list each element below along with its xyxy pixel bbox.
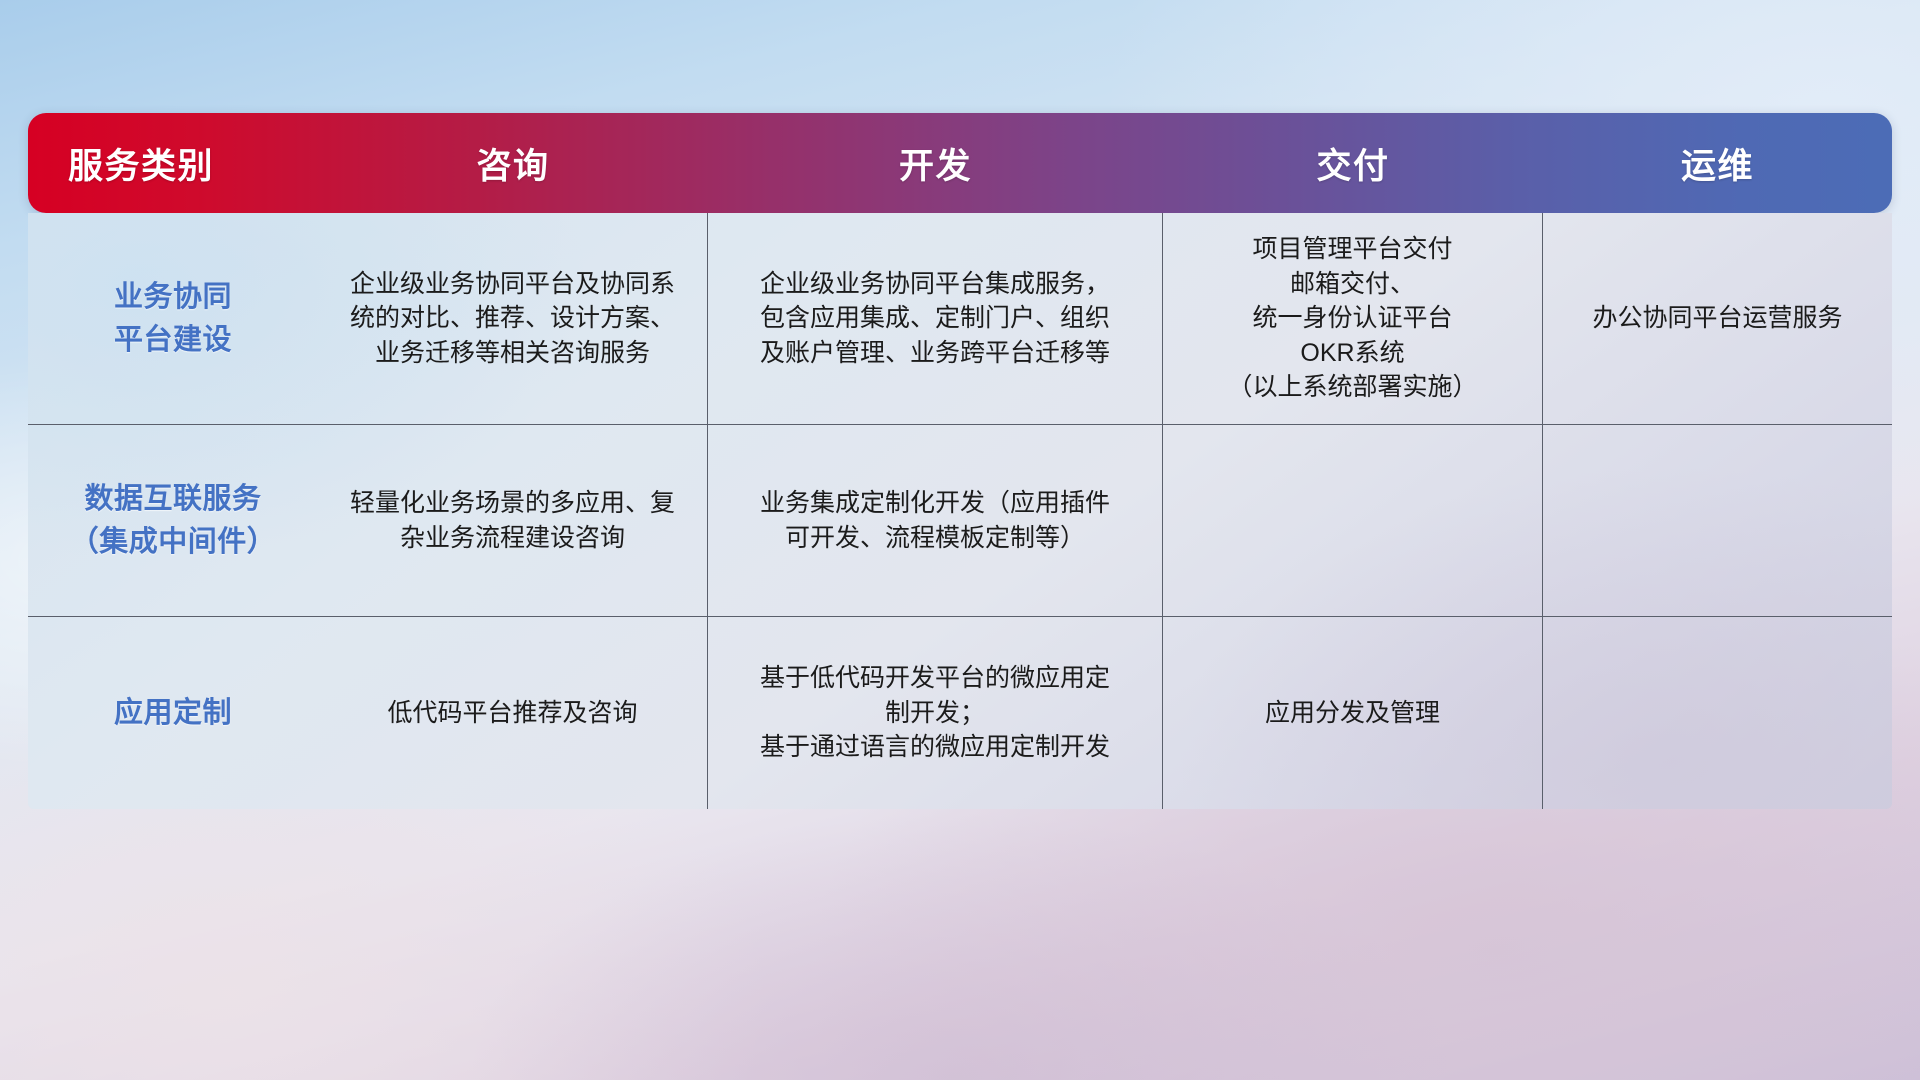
- column-header-development: 开发: [708, 113, 1163, 213]
- cell-row1-consulting: 企业级业务协同平台及协同系 统的对比、推荐、设计方案、 业务迁移等相关咨询服务: [318, 213, 708, 424]
- table-body: 业务协同 平台建设 企业级业务协同平台及协同系 统的对比、推荐、设计方案、 业务…: [28, 213, 1892, 809]
- service-matrix-table: 服务类别 咨询 开发 交付 运维 业务协同 平台建设 企业级业务协同平台及协同系…: [28, 113, 1892, 809]
- cell-row2-delivery: [1163, 425, 1543, 616]
- column-header-delivery: 交付: [1163, 113, 1543, 213]
- cell-row1-operations: 办公协同平台运营服务: [1543, 213, 1892, 424]
- cell-row3-delivery: 应用分发及管理: [1163, 617, 1543, 809]
- table-header-row: 服务类别 咨询 开发 交付 运维: [28, 113, 1892, 213]
- table-row: 业务协同 平台建设 企业级业务协同平台及协同系 统的对比、推荐、设计方案、 业务…: [28, 213, 1892, 425]
- column-header-operations: 运维: [1543, 113, 1892, 213]
- cell-row2-operations: [1543, 425, 1892, 616]
- row-label-data-interconnect-service: 数据互联服务 （集成中间件）: [28, 425, 318, 616]
- row-label-business-collaboration-platform: 业务协同 平台建设: [28, 213, 318, 424]
- cell-row3-development: 基于低代码开发平台的微应用定 制开发； 基于通过语言的微应用定制开发: [708, 617, 1163, 809]
- cell-row1-development: 企业级业务协同平台集成服务， 包含应用集成、定制门户、组织 及账户管理、业务跨平…: [708, 213, 1163, 424]
- table-row: 数据互联服务 （集成中间件） 轻量化业务场景的多应用、复 杂业务流程建设咨询 业…: [28, 425, 1892, 617]
- cell-row3-operations: [1543, 617, 1892, 809]
- column-header-service-category: 服务类别: [28, 113, 318, 213]
- cell-row3-consulting: 低代码平台推荐及咨询: [318, 617, 708, 809]
- cell-row2-consulting: 轻量化业务场景的多应用、复 杂业务流程建设咨询: [318, 425, 708, 616]
- row-label-application-customization: 应用定制: [28, 617, 318, 809]
- table-row: 应用定制 低代码平台推荐及咨询 基于低代码开发平台的微应用定 制开发； 基于通过…: [28, 617, 1892, 809]
- cell-row1-delivery: 项目管理平台交付 邮箱交付、 统一身份认证平台 OKR系统 （以上系统部署实施）: [1163, 213, 1543, 424]
- cell-row2-development: 业务集成定制化开发（应用插件 可开发、流程模板定制等）: [708, 425, 1163, 616]
- column-header-consulting: 咨询: [318, 113, 708, 213]
